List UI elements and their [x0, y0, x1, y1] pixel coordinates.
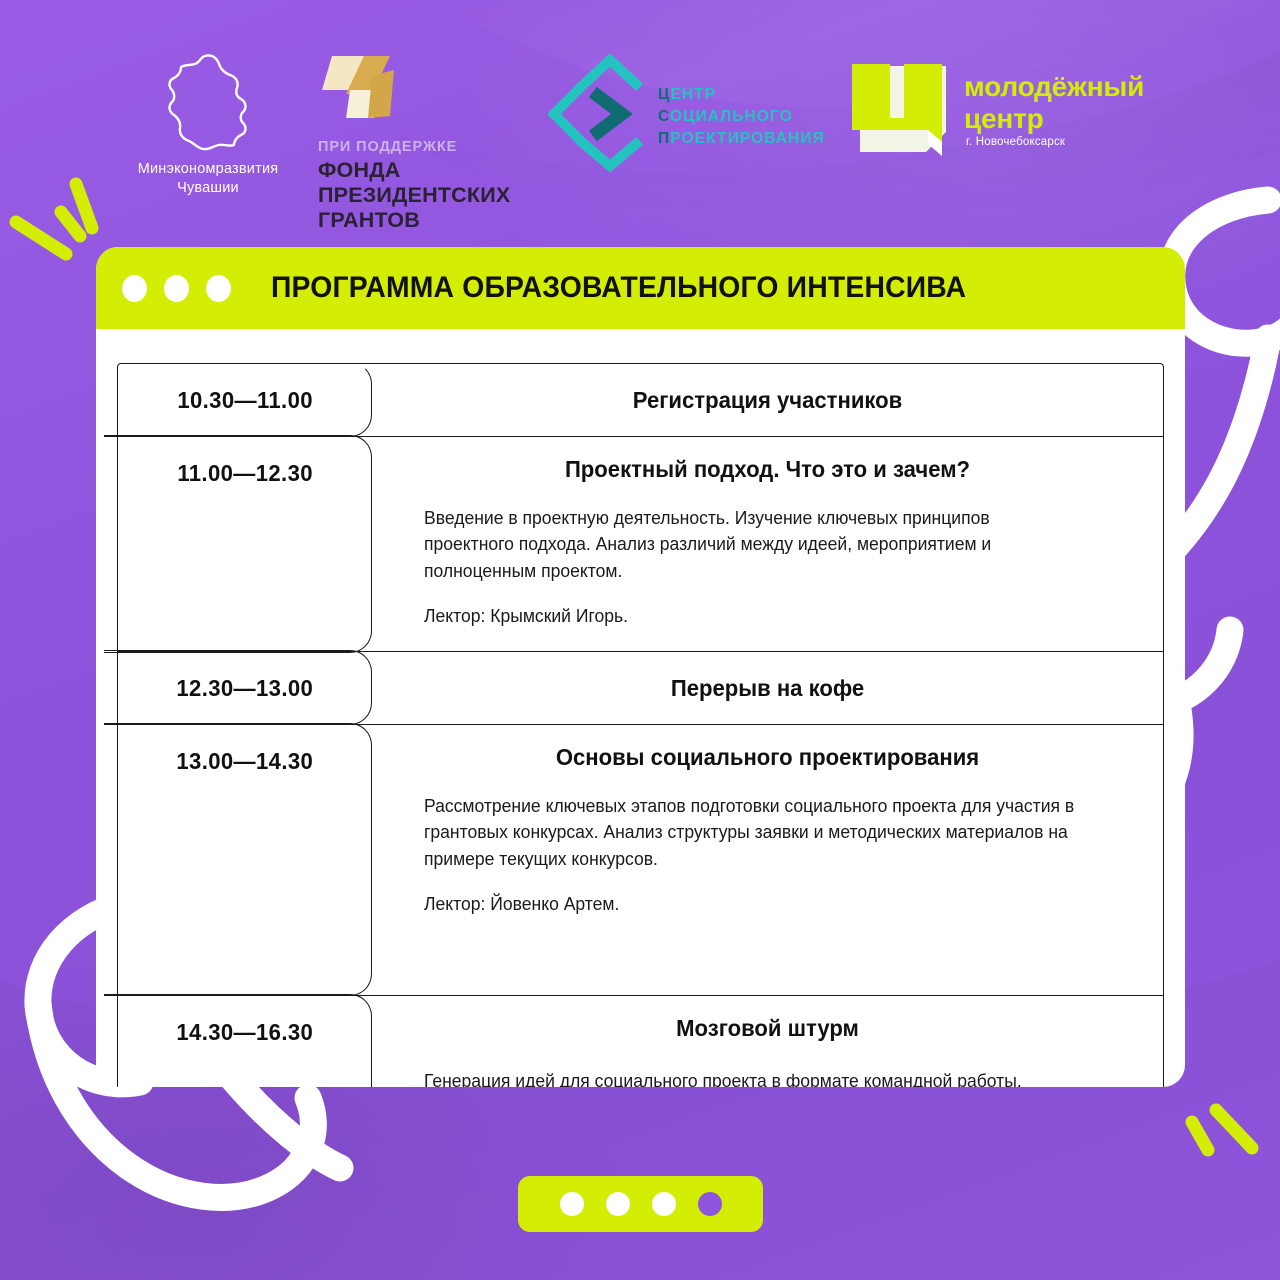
time-cell: 10.30—11.00	[118, 364, 372, 436]
logo-fund-line-1: ФОНДА	[318, 158, 548, 183]
chevron-bottom	[584, 144, 636, 166]
logo-youth-center-city: г. Новочебоксарск	[966, 136, 1144, 148]
table-row: 14.30—16.30 Мозговой штурм Генерация иде…	[118, 996, 1163, 1087]
presidential-grants-fund-mark-icon	[320, 46, 406, 124]
logo-minekonomrazvitiya: Минэкономразвития Чувашии	[118, 52, 298, 197]
logo-fund-line-3: ГРАНТОВ	[318, 208, 548, 233]
session-title: Проектный подход. Что это и зачем?	[438, 455, 1098, 485]
logo-csp-line-2: СОЦИАЛЬНОГО	[658, 106, 825, 128]
session-cell: Перерыв на кофе	[372, 652, 1163, 724]
window-dots	[122, 275, 231, 302]
pagination-dot-3[interactable]	[652, 1192, 676, 1216]
pagination[interactable]	[518, 1176, 763, 1232]
logo-youth-center: молодёжный центр г. Новочебоксарск	[846, 50, 1186, 170]
chevron-top	[584, 60, 636, 84]
time-value: 10.30—11.00	[177, 387, 313, 436]
letter-tse-3d-icon	[846, 50, 956, 156]
session-description: Генерация идей для социального проекта в…	[424, 1068, 1084, 1087]
session-title: Мозговой штурм	[438, 1014, 1098, 1044]
logo-fund-line-2: ПРЕЗИДЕНТСКИХ	[318, 183, 548, 208]
logo-presidential-grants-fund: ПРИ ПОДДЕРЖКЕ ФОНДА ПРЕЗИДЕНТСКИХ ГРАНТО…	[318, 46, 548, 233]
chevron-left	[554, 90, 578, 138]
logo-fund-main: ФОНДА ПРЕЗИДЕНТСКИХ ГРАНТОВ	[318, 158, 548, 233]
session-description: Введение в проектную деятельность. Изуче…	[424, 505, 1084, 585]
logo-csp-wordmark: ЦЕНТР СОЦИАЛЬНОГО ПРОЕКТИРОВАНИЯ	[658, 84, 825, 150]
session-description: Рассмотрение ключевых этапов подготовки …	[424, 793, 1084, 873]
time-cell: 13.00—14.30	[118, 725, 372, 995]
logo-youth-center-line-2: центр	[964, 104, 1144, 134]
time-value: 13.00—14.30	[177, 748, 314, 995]
caption-line-2: Чувашии	[118, 179, 298, 198]
time-cell: 12.30—13.00	[118, 652, 372, 724]
chevron-inner-right	[598, 96, 622, 132]
session-title: Основы социального проектирования	[438, 743, 1098, 773]
schedule-table: 10.30—11.00 Регистрация участников 11.00…	[117, 363, 1164, 1087]
time-value: 14.30—16.30	[177, 1019, 314, 1087]
logo-csp-line-2-rest: ОЦИАЛЬНОГО	[670, 108, 793, 125]
logo-csp-line-2-lead: С	[658, 108, 670, 125]
caption-line-1: Минэкономразвития	[118, 160, 298, 179]
window-dot-3	[206, 275, 231, 302]
logo-csp-line-3-lead: П	[658, 130, 670, 147]
table-row: 13.00—14.30 Основы социального проектиро…	[118, 725, 1163, 996]
session-lecturer: Лектор: Крымский Игорь.	[424, 603, 1084, 629]
diamond-chevrons-icon	[548, 54, 668, 172]
time-value: 12.30—13.00	[177, 675, 314, 724]
table-row: 11.00—12.30 Проектный подход. Что это и …	[118, 437, 1163, 652]
time-value: 11.00—12.30	[177, 460, 313, 651]
session-cell: Регистрация участников	[372, 364, 1163, 436]
window-dot-2	[164, 275, 189, 302]
pagination-dot-1[interactable]	[560, 1192, 584, 1216]
time-cell: 14.30—16.30	[118, 996, 372, 1087]
table-row: 12.30—13.00 Перерыв на кофе	[118, 652, 1163, 725]
session-cell: Проектный подход. Что это и зачем? Введе…	[372, 437, 1163, 651]
partner-logo-row: Минэкономразвития Чувашии ПРИ ПОДДЕРЖКЕ …	[0, 44, 1280, 194]
logo-csp-line-1-rest: ЕНТР	[670, 86, 716, 103]
page-title: ПРОГРАММА ОБРАЗОВАТЕЛЬНОГО ИНТЕНСИВА	[271, 271, 966, 305]
window-dot-1	[122, 275, 147, 302]
program-card: ПРОГРАММА ОБРАЗОВАТЕЛЬНОГО ИНТЕНСИВА 10.…	[96, 247, 1185, 1087]
table-row: 10.30—11.00 Регистрация участников	[118, 364, 1163, 437]
time-cell: 11.00—12.30	[118, 437, 372, 651]
logo-fund-pre-label: ПРИ ПОДДЕРЖКЕ	[318, 139, 548, 155]
session-title: Регистрация участников	[438, 386, 1098, 416]
session-cell: Мозговой штурм Генерация идей для социал…	[372, 996, 1163, 1087]
schedule-table-wrap: 10.30—11.00 Регистрация участников 11.00…	[96, 329, 1185, 1087]
logo-center-social-design: ЦЕНТР СОЦИАЛЬНОГО ПРОЕКТИРОВАНИЯ	[548, 54, 808, 174]
chuvashia-map-outline-icon	[155, 52, 261, 156]
logo-csp-line-3-rest: РОЕКТИРОВАНИЯ	[670, 130, 825, 147]
pagination-dot-4-active[interactable]	[698, 1192, 722, 1216]
session-title: Перерыв на кофе	[438, 674, 1098, 704]
card-header: ПРОГРАММА ОБРАЗОВАТЕЛЬНОГО ИНТЕНСИВА	[96, 247, 1185, 329]
logo-youth-center-text: молодёжный центр г. Новочебоксарск	[964, 72, 1144, 148]
logo-csp-line-1-lead: Ц	[658, 86, 670, 103]
logo-csp-line-1: ЦЕНТР	[658, 84, 825, 106]
session-cell: Основы социального проектирования Рассмо…	[372, 725, 1163, 995]
logo-csp-line-3: ПРОЕКТИРОВАНИЯ	[658, 128, 825, 150]
pagination-dot-2[interactable]	[606, 1192, 630, 1216]
logo-minekonomrazvitiya-caption: Минэкономразвития Чувашии	[118, 160, 298, 197]
logo-youth-center-line-1: молодёжный	[964, 72, 1144, 102]
session-lecturer: Лектор: Йовенко Артем.	[424, 891, 1084, 917]
